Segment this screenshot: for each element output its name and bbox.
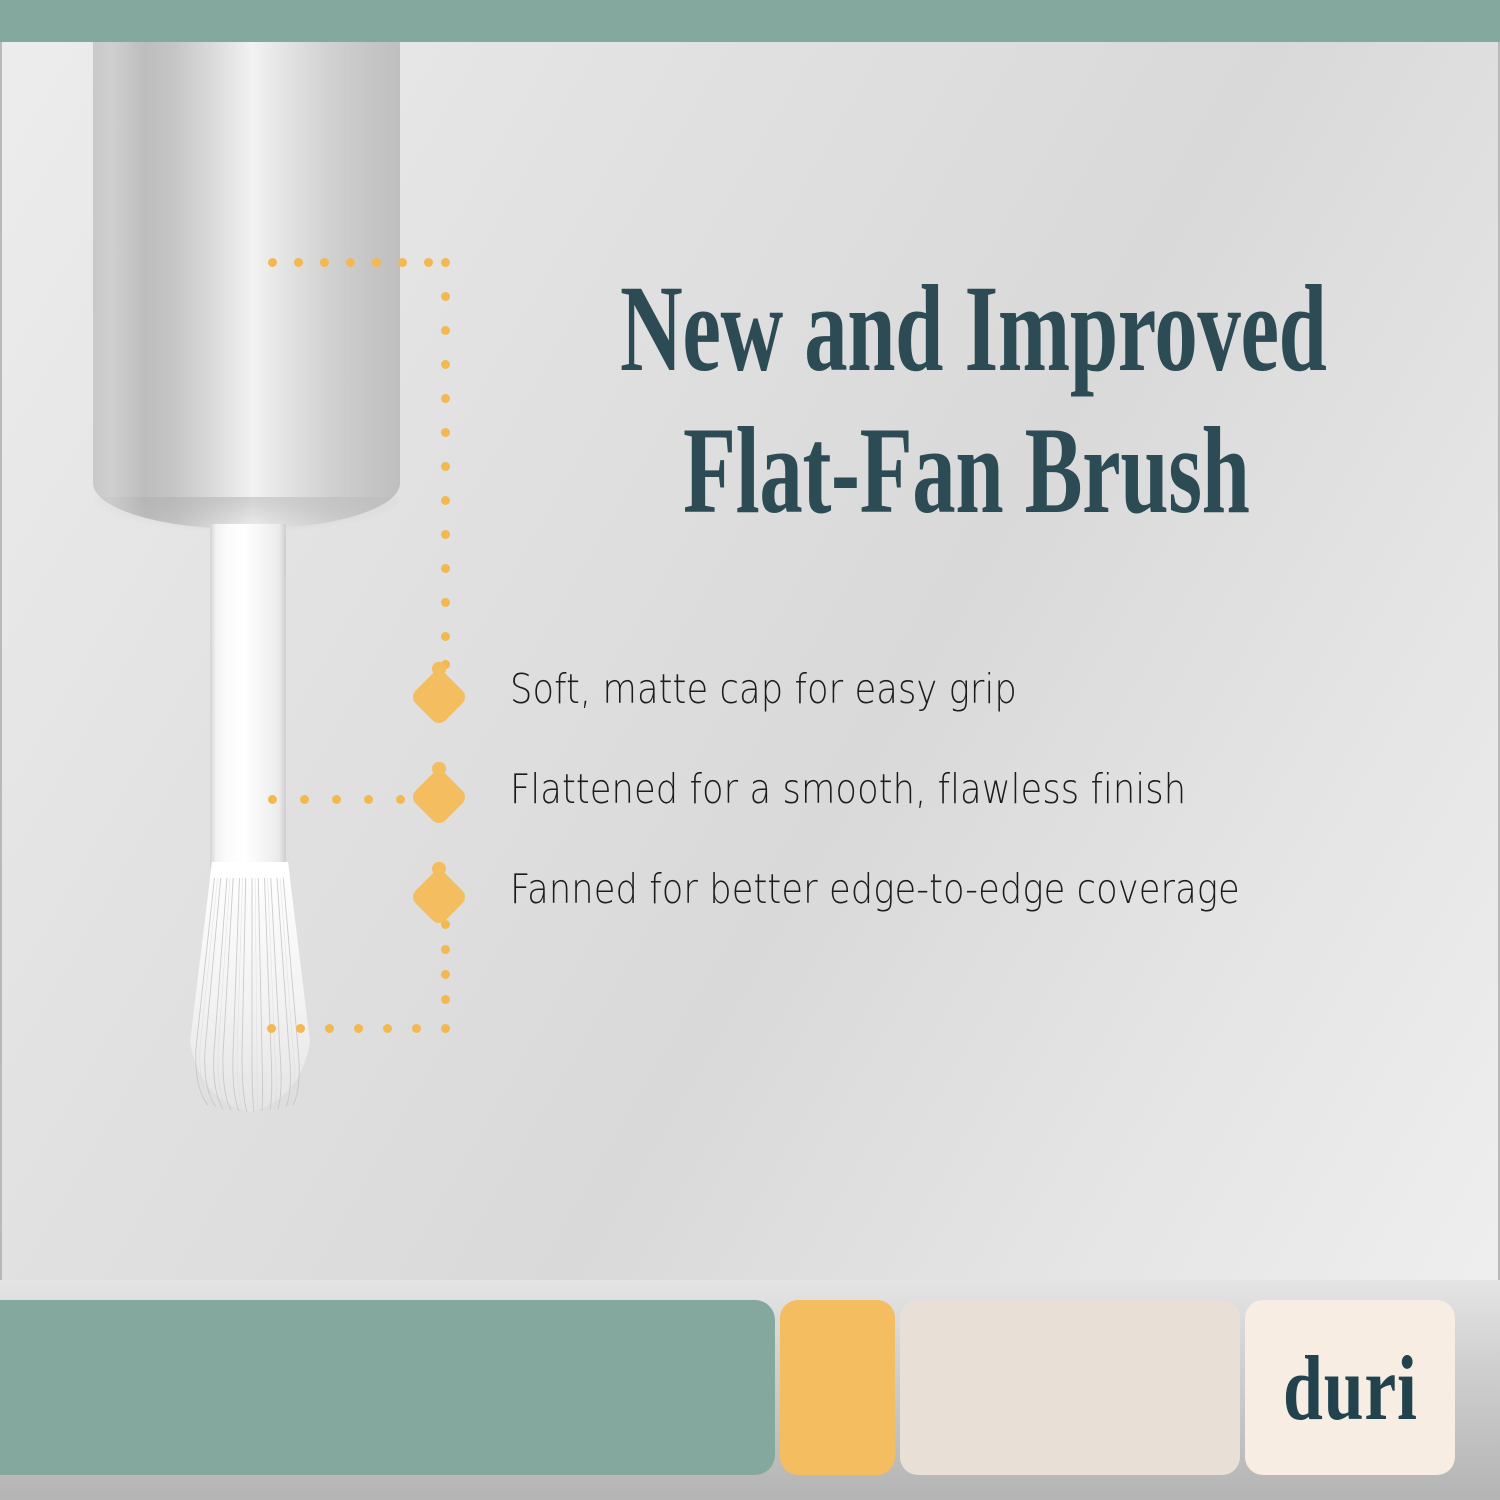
headline-line-2: Flat-Fan Brush [683,410,1180,532]
product-image [0,42,470,1282]
infographic-canvas: New and Improved Flat-Fan Brush Soft, ma… [0,0,1500,1500]
footer-block-sage [0,1300,775,1475]
headline-line-1: New and Improved [620,268,1180,390]
feature-list: Soft, matte cap for easy grip Flattened … [418,662,1458,962]
feature-label: Flattened for a smooth, flawless finish [510,766,1186,813]
footer-block-cream: duri [1245,1300,1455,1475]
brush-bristles [150,862,350,1122]
brand-logo: duri [1283,1342,1418,1434]
brush-stem-edge [210,524,286,869]
brush-cap [93,42,400,529]
list-item: Flattened for a smooth, flawless finish [418,762,1458,862]
diamond-bullet-icon [409,767,468,826]
feature-label: Fanned for better edge-to-edge coverage [510,866,1240,913]
page-title: New and Improved Flat-Fan Brush [620,268,1180,531]
diamond-bullet-icon [409,667,468,726]
top-accent-bar [0,0,1500,42]
feature-label: Soft, matte cap for easy grip [510,666,1017,713]
footer-bar: duri [0,1280,1500,1500]
list-item: Soft, matte cap for easy grip [418,662,1458,762]
footer-block-beige [900,1300,1240,1475]
diamond-bullet-icon [409,867,468,926]
footer-block-amber [780,1300,895,1475]
list-item: Fanned for better edge-to-edge coverage [418,862,1458,962]
